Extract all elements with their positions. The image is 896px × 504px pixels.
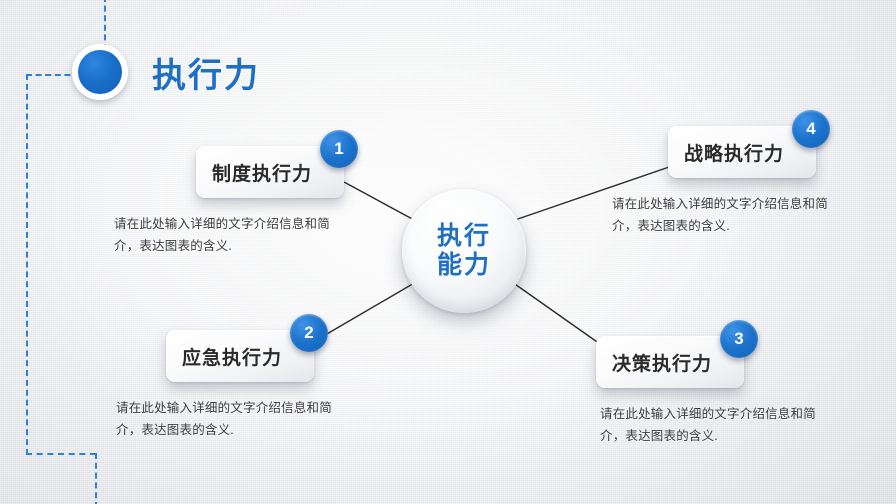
center-hub: 执行 能力 — [402, 189, 526, 313]
node-box-3[interactable]: 决策执行力 3 — [596, 336, 744, 388]
slide-canvas: 执行力 执行 能力 制度执行力 1 请在此处输入详细的文字介绍信息和简介，表达图… — [0, 0, 896, 504]
connector-to-node-2 — [320, 282, 416, 338]
node-description-3: 请在此处输入详细的文字介绍信息和简介，表达图表的含义. — [600, 404, 836, 448]
page-title: 执行力 — [152, 48, 260, 97]
node-item-4[interactable]: 战略执行力 4 请在此处输入详细的文字介绍信息和简介，表达图表的含义. — [668, 126, 816, 178]
node-description-2: 请在此处输入详细的文字介绍信息和简介，表达图表的含义. — [116, 398, 352, 442]
dashed-line-bottom-vertical — [95, 453, 97, 504]
dashed-line-bottom-horizontal — [26, 453, 96, 455]
node-label-1: 制度执行力 — [196, 159, 312, 186]
node-item-2[interactable]: 应急执行力 2 请在此处输入详细的文字介绍信息和简介，表达图表的含义. — [166, 330, 314, 382]
hub-line-2: 能力 — [437, 251, 491, 281]
node-label-2: 应急执行力 — [166, 343, 282, 370]
node-badge-4: 4 — [792, 110, 830, 148]
node-box-1[interactable]: 制度执行力 1 — [196, 146, 344, 198]
connector-to-node-1 — [344, 182, 416, 221]
node-description-4: 请在此处输入详细的文字介绍信息和简介，表达图表的含义. — [612, 194, 848, 238]
title-bullet-icon — [72, 44, 128, 100]
node-label-3: 决策执行力 — [596, 349, 712, 376]
node-badge-3: 3 — [720, 320, 758, 358]
dashed-line-left-vertical — [26, 74, 28, 455]
node-description-1: 请在此处输入详细的文字介绍信息和简介，表达图表的含义. — [114, 214, 350, 258]
node-box-4[interactable]: 战略执行力 4 — [668, 126, 816, 178]
node-badge-2: 2 — [290, 314, 328, 352]
node-item-3[interactable]: 决策执行力 3 请在此处输入详细的文字介绍信息和简介，表达图表的含义. — [596, 336, 744, 388]
node-item-1[interactable]: 制度执行力 1 请在此处输入详细的文字介绍信息和简介，表达图表的含义. — [196, 146, 344, 198]
dashed-line-top — [104, 0, 106, 50]
hub-line-1: 执行 — [437, 222, 491, 252]
node-label-4: 战略执行力 — [668, 139, 784, 166]
node-box-2[interactable]: 应急执行力 2 — [166, 330, 314, 382]
connector-to-node-3 — [512, 282, 600, 344]
node-badge-1: 1 — [320, 130, 358, 168]
